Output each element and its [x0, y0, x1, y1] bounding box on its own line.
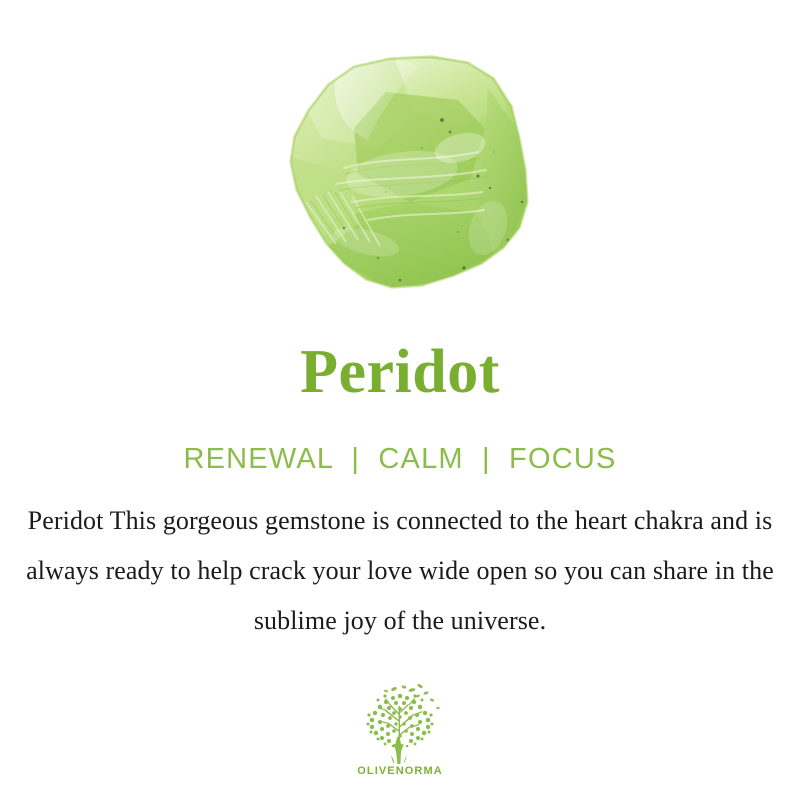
product-description: Peridot This gorgeous gemstone is connec…	[18, 496, 782, 646]
keyword-separator-1: |	[342, 443, 369, 475]
brand-logo: OLIVENORMA	[340, 682, 460, 786]
keyword-renewal: RENEWAL	[183, 443, 333, 475]
peridot-stone-icon	[282, 52, 534, 302]
peridot-stone-image	[282, 52, 534, 302]
brand-wordmark: OLIVENORMA	[340, 765, 460, 778]
olive-tree-icon	[352, 682, 448, 764]
gemstone-image-area	[0, 0, 800, 318]
keyword-separator-2: |	[473, 443, 500, 475]
product-title: Peridot	[0, 336, 800, 408]
product-card: Peridot RENEWAL | CALM | FOCUS Peridot T…	[0, 0, 800, 800]
keyword-focus: FOCUS	[509, 443, 617, 475]
keyword-list: RENEWAL | CALM | FOCUS	[0, 441, 800, 477]
keyword-calm: CALM	[378, 443, 463, 475]
